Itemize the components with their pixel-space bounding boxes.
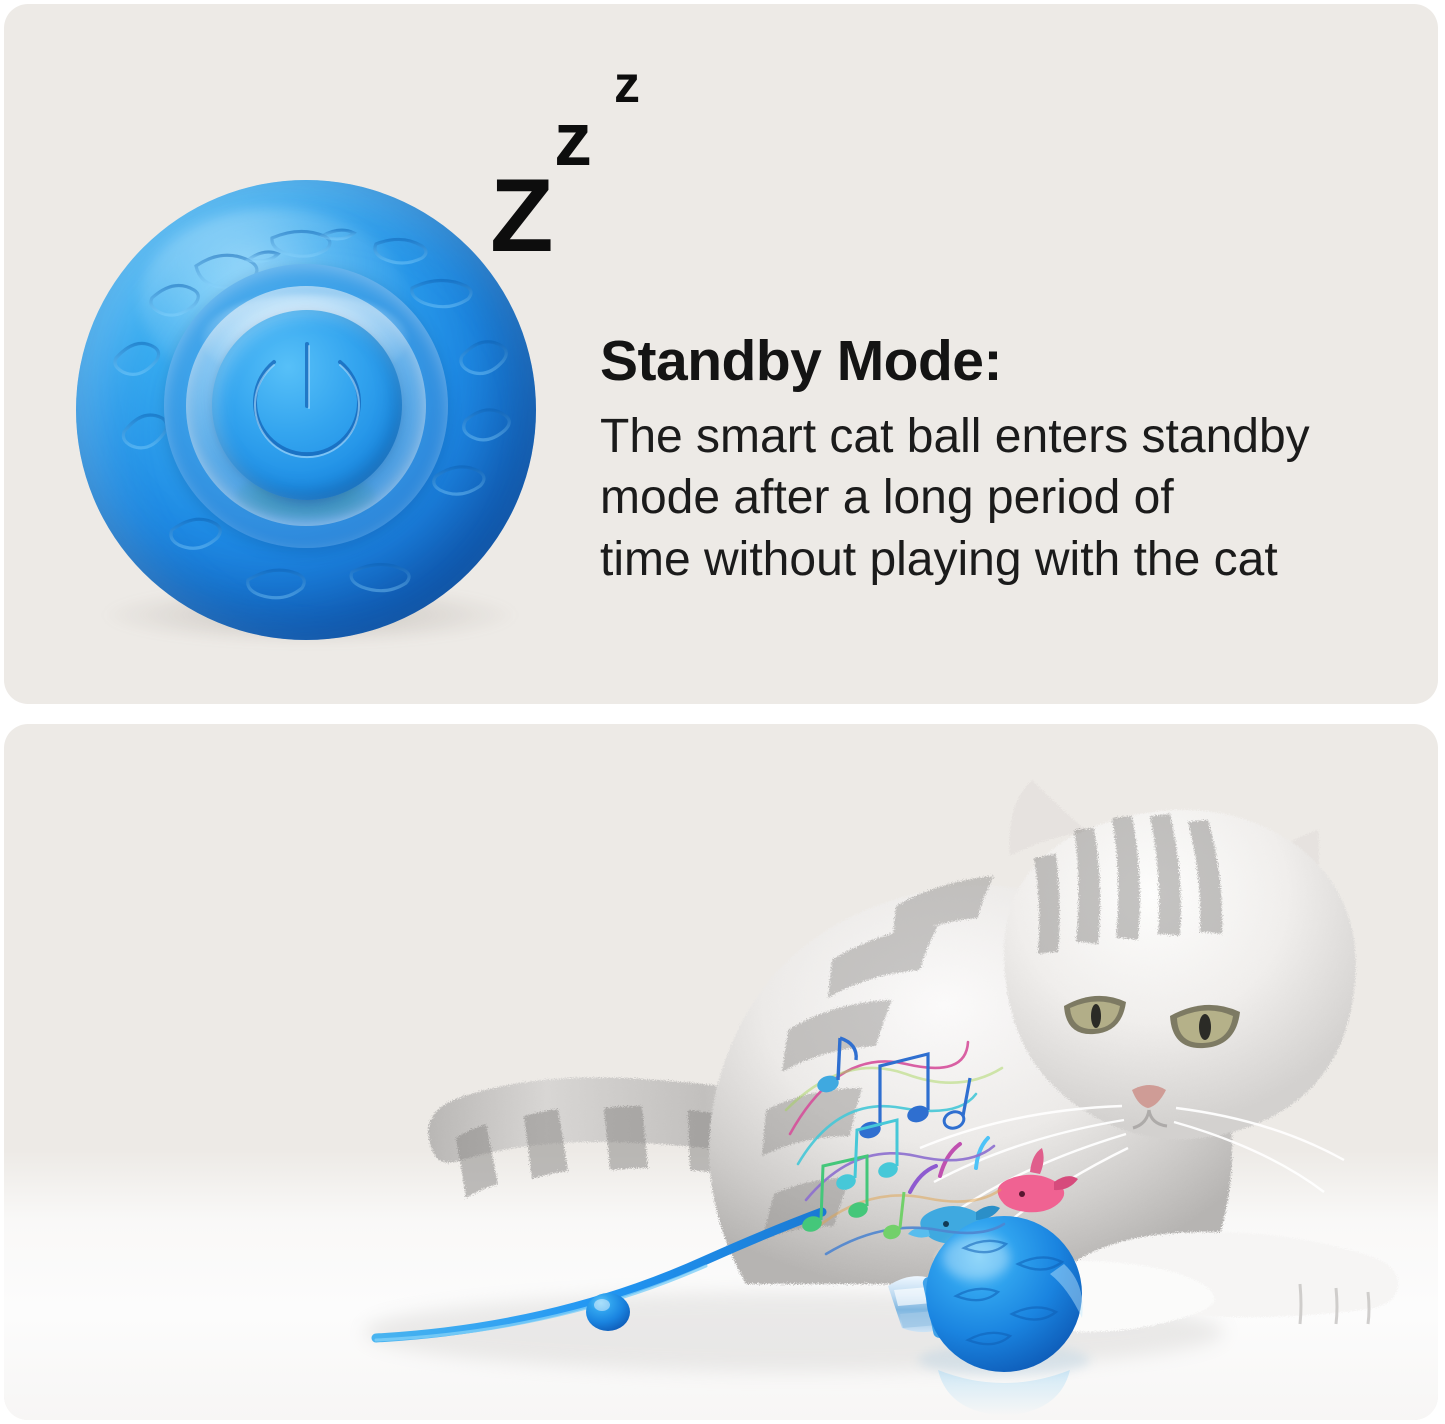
product-infographic: Z z z Standby Mode: The smart cat ball e… (0, 0, 1445, 1424)
panel-motion-activated: Motion-Activated: Tapping or touching it… (4, 724, 1438, 1420)
standby-body: The smart cat ball enters standby mode a… (600, 406, 1390, 590)
cat-playing-scene (4, 724, 1438, 1420)
zzz-letter-small: z (614, 59, 640, 111)
standby-text-block: Standby Mode: The smart cat ball enters … (600, 332, 1390, 590)
standby-body-line: The smart cat ball enters standby (600, 406, 1390, 467)
note-green-single (881, 1192, 904, 1241)
zzz-letter-medium: z (554, 102, 592, 178)
music-notes-icon (784, 1014, 1014, 1274)
standby-body-line: mode after a long period of (600, 467, 1390, 528)
zzz-letter-large: Z (490, 164, 554, 268)
standby-heading: Standby Mode: (600, 332, 1390, 392)
note-blue-2 (942, 1078, 970, 1131)
standby-body-line: time without playing with the cat (600, 529, 1390, 590)
sleep-zzz-icon: Z z z (474, 44, 674, 274)
ball-power-button[interactable] (212, 310, 402, 500)
power-icon (212, 310, 402, 500)
toy-ball-reflection (938, 1370, 1070, 1416)
panel-standby-mode: Z z z Standby Mode: The smart cat ball e… (4, 4, 1438, 704)
note-blue-1 (815, 1038, 856, 1095)
cat-and-toy-illustration (4, 724, 1438, 1420)
wand-bead (586, 1293, 630, 1331)
